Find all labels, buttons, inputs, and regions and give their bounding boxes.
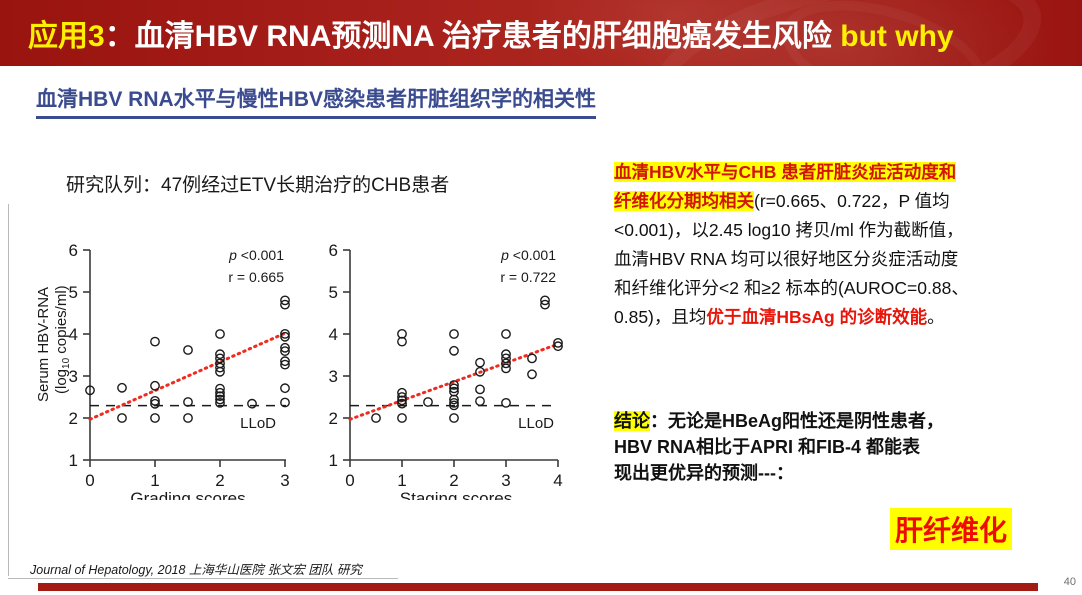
- figure-scatter-pair: 6 5 4 3 2 1 0 1 2 3: [18, 232, 588, 500]
- svg-text:6: 6: [69, 241, 78, 260]
- svg-text:1: 1: [69, 451, 78, 470]
- page-title: 应用3：血清HBV RNA预测NA 治疗患者的肝细胞癌发生风险 but why: [28, 11, 954, 55]
- svg-text:(log10 copies/ml): (log10 copies/ml): [53, 285, 72, 394]
- conclusion-keyword: 肝纤维化: [890, 508, 1012, 550]
- source-citation: Journal of Hepatology, 2018 上海华山医院 张文宏 团…: [30, 559, 362, 578]
- finding-highlight-1: 血清HBV水平与CHB 患者肝脏炎症活动度和: [614, 162, 956, 182]
- title-segment-tail: but why: [832, 20, 954, 53]
- svg-text:5: 5: [329, 283, 338, 302]
- title-segment-main: ：血清HBV RNA预测NA 治疗患者的肝细胞癌发生风险: [105, 20, 832, 53]
- svg-text:2: 2: [329, 409, 338, 428]
- svg-text:1: 1: [329, 451, 338, 470]
- conclusion-line-3: 现出更优异的预测---：: [614, 460, 1074, 486]
- svg-text:3: 3: [280, 471, 289, 490]
- finding-line-6-emphasis: 优于血清HBsAg 的诊断效能: [706, 307, 927, 327]
- svg-text:6: 6: [329, 241, 338, 260]
- chart-staging-svg: 6 5 4 3 2 1 0 1 2: [310, 232, 588, 500]
- svg-text:p <0.001: p <0.001: [228, 247, 284, 263]
- finding-line-1: 血清HBV水平与CHB 患者肝脏炎症活动度和: [614, 158, 1074, 187]
- cohort-description: 研究队列：47例经过ETV长期治疗的CHB患者: [66, 170, 449, 197]
- svg-text:2: 2: [69, 409, 78, 428]
- svg-text:0: 0: [345, 471, 354, 490]
- svg-text:0: 0: [85, 471, 94, 490]
- svg-text:p <0.001: p <0.001: [500, 247, 556, 263]
- conclusion-tag: 结论: [614, 411, 650, 431]
- svg-text:r = 0.722: r = 0.722: [500, 269, 556, 285]
- svg-text:4: 4: [553, 471, 562, 490]
- svg-text:r = 0.665: r = 0.665: [228, 269, 284, 285]
- findings-panel: 血清HBV水平与CHB 患者肝脏炎症活动度和 纤维化分期均相关(r=0.665、…: [614, 158, 1074, 332]
- header-banner: 应用3：血清HBV RNA预测NA 治疗患者的肝细胞癌发生风险 but why: [0, 0, 1082, 66]
- finding-line-3: <0.001)，以2.45 log10 拷贝/ml 作为截断值，: [614, 216, 1074, 245]
- finding-line-5: 和纤维化评分<2 和≥2 标本的(AUROC=0.88、: [614, 274, 1074, 303]
- svg-text:3: 3: [501, 471, 510, 490]
- chart-grading-scores: 6 5 4 3 2 1 0 1 2 3: [28, 232, 306, 500]
- finding-highlight-2: 纤维化分期均相关: [614, 191, 754, 211]
- svg-text:Serum HBV-RNA: Serum HBV-RNA: [35, 287, 52, 402]
- finding-line-4: 血清HBV RNA 均可以很好地区分炎症活动度: [614, 245, 1074, 274]
- conclusion-panel: 结论：无论是HBeAg阳性还是阴性患者， HBV RNA相比于APRI 和FIB…: [614, 408, 1074, 486]
- page-number: 40: [1064, 576, 1076, 588]
- svg-text:Staging scores: Staging scores: [400, 489, 512, 500]
- svg-text:LLoD: LLoD: [240, 415, 276, 432]
- footer-accent-bar: [38, 583, 1038, 591]
- conclusion-line-1: 结论：无论是HBeAg阳性还是阴性患者，: [614, 408, 1074, 434]
- footer-divider: [8, 578, 398, 579]
- svg-text:2: 2: [215, 471, 224, 490]
- slide-root: 应用3：血清HBV RNA预测NA 治疗患者的肝细胞癌发生风险 but why …: [0, 0, 1082, 595]
- finding-line-6-post: 。: [927, 307, 945, 327]
- svg-text:1: 1: [397, 471, 406, 490]
- left-divider: [8, 204, 9, 576]
- title-segment-tag: 应用3: [28, 20, 105, 53]
- chart-staging-scores: 6 5 4 3 2 1 0 1 2: [310, 232, 588, 500]
- finding-line-6: 0.85)，且均优于血清HBsAg 的诊断效能。: [614, 303, 1074, 332]
- svg-text:2: 2: [449, 471, 458, 490]
- finding-line-2: 纤维化分期均相关(r=0.665、0.722，P 值均: [614, 187, 1074, 216]
- section-subtitle: 血清HBV RNA水平与慢性HBV感染患者肝脏组织学的相关性: [36, 83, 596, 119]
- finding-line-6-pre: 0.85)，且均: [614, 307, 706, 327]
- conclusion-line-2: HBV RNA相比于APRI 和FIB-4 都能表: [614, 434, 1074, 460]
- svg-text:1: 1: [150, 471, 159, 490]
- svg-text:LLoD: LLoD: [518, 415, 554, 432]
- finding-line-2-rest: (r=0.665、0.722，P 值均: [754, 191, 950, 211]
- conclusion-line-1-rest: ：无论是HBeAg阳性还是阴性患者，: [650, 411, 944, 431]
- chart-grading-svg: 6 5 4 3 2 1 0 1 2 3: [28, 232, 306, 500]
- svg-text:4: 4: [329, 325, 338, 344]
- svg-text:Grading scores: Grading scores: [130, 489, 245, 500]
- svg-text:3: 3: [329, 367, 338, 386]
